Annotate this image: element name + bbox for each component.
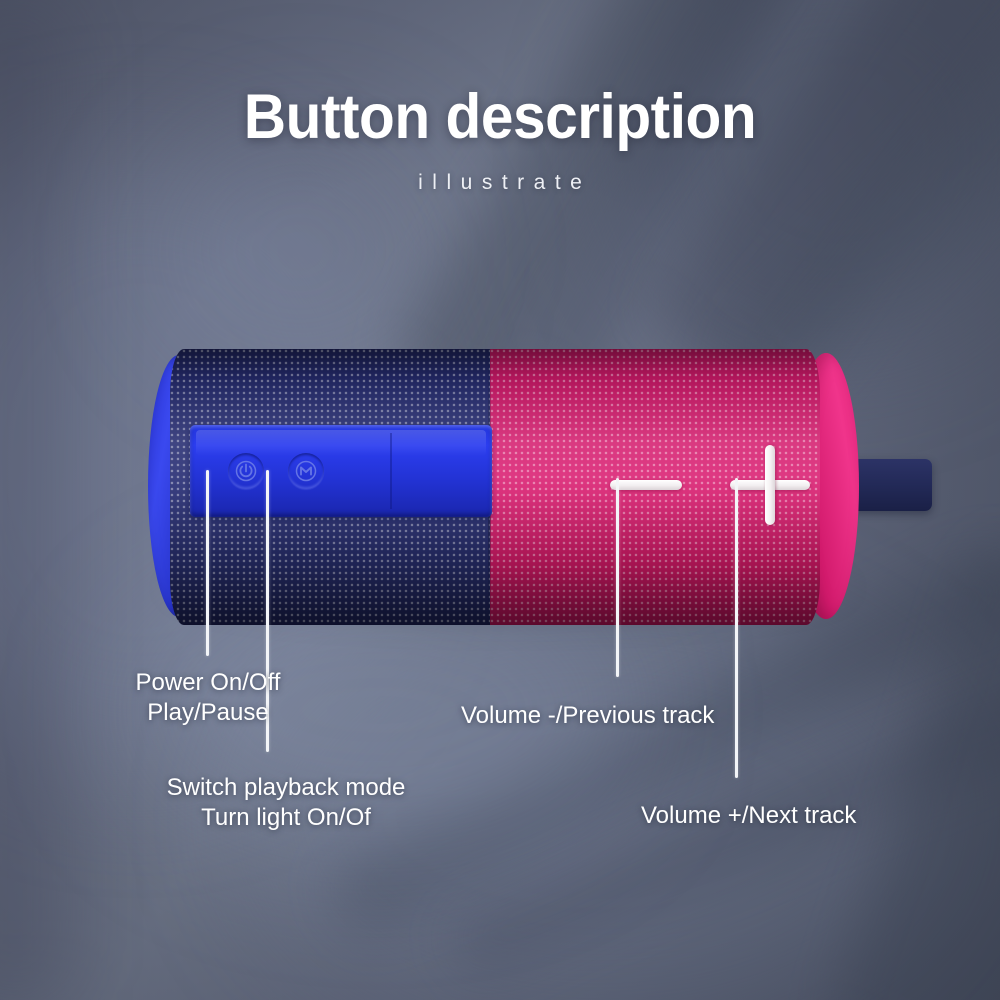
callout-power: Power On/Off Play/Pause <box>108 668 308 728</box>
callout-mode-line2: Turn light On/Of <box>165 803 407 833</box>
callout-mode: Switch playback mode Turn light On/Of <box>165 773 407 833</box>
mode-m-icon <box>294 459 318 483</box>
power-icon <box>234 459 258 483</box>
callout-volume-down-line1: Volume -/Previous track <box>461 702 714 729</box>
power-button[interactable] <box>228 453 264 489</box>
header: Button description illustrate <box>0 86 1000 195</box>
callout-volume-up-line1: Volume +/Next track <box>641 802 856 829</box>
control-strip <box>190 425 492 517</box>
leader-line-power <box>206 470 209 656</box>
leader-line-volume-up <box>735 478 738 778</box>
page-subtitle: illustrate <box>0 171 1000 195</box>
infographic-canvas: Button description illustrate <box>0 0 1000 1000</box>
speaker-body <box>148 347 848 627</box>
callout-power-line1: Power On/Off <box>136 669 281 696</box>
page-title: Button description <box>35 86 965 149</box>
callout-volume-down: Volume -/Previous track <box>461 701 714 731</box>
volume-up-button-vertical <box>765 445 775 525</box>
speaker-product-image <box>148 347 848 627</box>
callout-mode-line1: Switch playback mode <box>167 774 406 801</box>
leader-line-volume-down <box>616 478 619 677</box>
mode-button[interactable] <box>288 453 324 489</box>
callout-volume-up: Volume +/Next track <box>641 801 856 831</box>
callout-power-line2: Play/Pause <box>108 698 308 728</box>
volume-down-button[interactable] <box>610 480 682 490</box>
